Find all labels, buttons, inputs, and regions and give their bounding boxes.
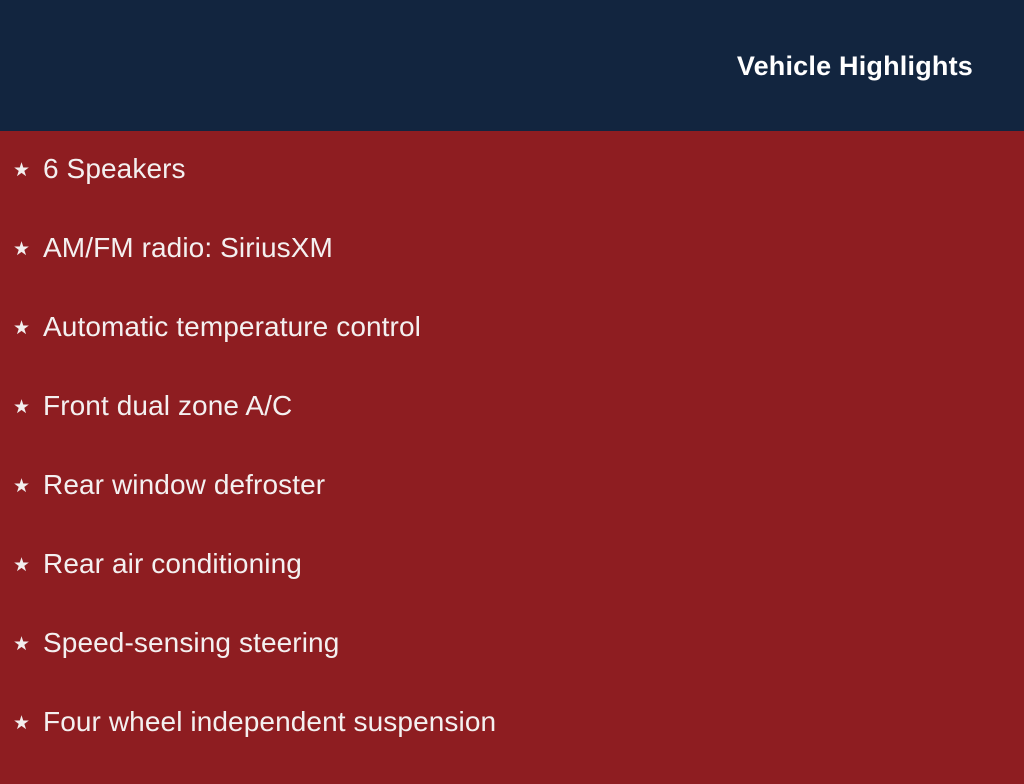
feature-label: Four wheel independent suspension xyxy=(43,705,496,739)
list-item: ★ Speed-sensing steering xyxy=(0,626,1024,705)
slide-body: ★ 6 Speakers ★ AM/FM radio: SiriusXM ★ A… xyxy=(0,131,1024,784)
list-item: ★ Rear window defroster xyxy=(0,468,1024,547)
list-item: ★ Four wheel independent suspension xyxy=(0,705,1024,784)
feature-label: Automatic temperature control xyxy=(43,310,421,344)
star-icon: ★ xyxy=(13,398,43,417)
page-title: Vehicle Highlights xyxy=(737,51,973,80)
star-icon: ★ xyxy=(13,714,43,733)
star-icon: ★ xyxy=(13,161,43,180)
list-item: ★ 6 Speakers xyxy=(0,152,1024,231)
feature-label: 6 Speakers xyxy=(43,152,186,186)
list-item: ★ Rear air conditioning xyxy=(0,547,1024,626)
star-icon: ★ xyxy=(13,477,43,496)
feature-label: Front dual zone A/C xyxy=(43,389,292,423)
vehicle-highlights-slide: Vehicle Highlights ★ 6 Speakers ★ AM/FM … xyxy=(0,0,1024,768)
list-item: ★ Front dual zone A/C xyxy=(0,389,1024,468)
star-icon: ★ xyxy=(13,319,43,338)
list-item: ★ Automatic temperature control xyxy=(0,310,1024,389)
feature-label: AM/FM radio: SiriusXM xyxy=(43,231,333,265)
feature-label: Rear air conditioning xyxy=(43,547,302,581)
feature-label: Speed-sensing steering xyxy=(43,626,339,660)
star-icon: ★ xyxy=(13,240,43,259)
vehicle-feature-list: ★ 6 Speakers ★ AM/FM radio: SiriusXM ★ A… xyxy=(0,152,1024,784)
feature-label: Rear window defroster xyxy=(43,468,325,502)
star-icon: ★ xyxy=(13,556,43,575)
slide-header: Vehicle Highlights xyxy=(0,0,1024,131)
list-item: ★ AM/FM radio: SiriusXM xyxy=(0,231,1024,310)
star-icon: ★ xyxy=(13,635,43,654)
